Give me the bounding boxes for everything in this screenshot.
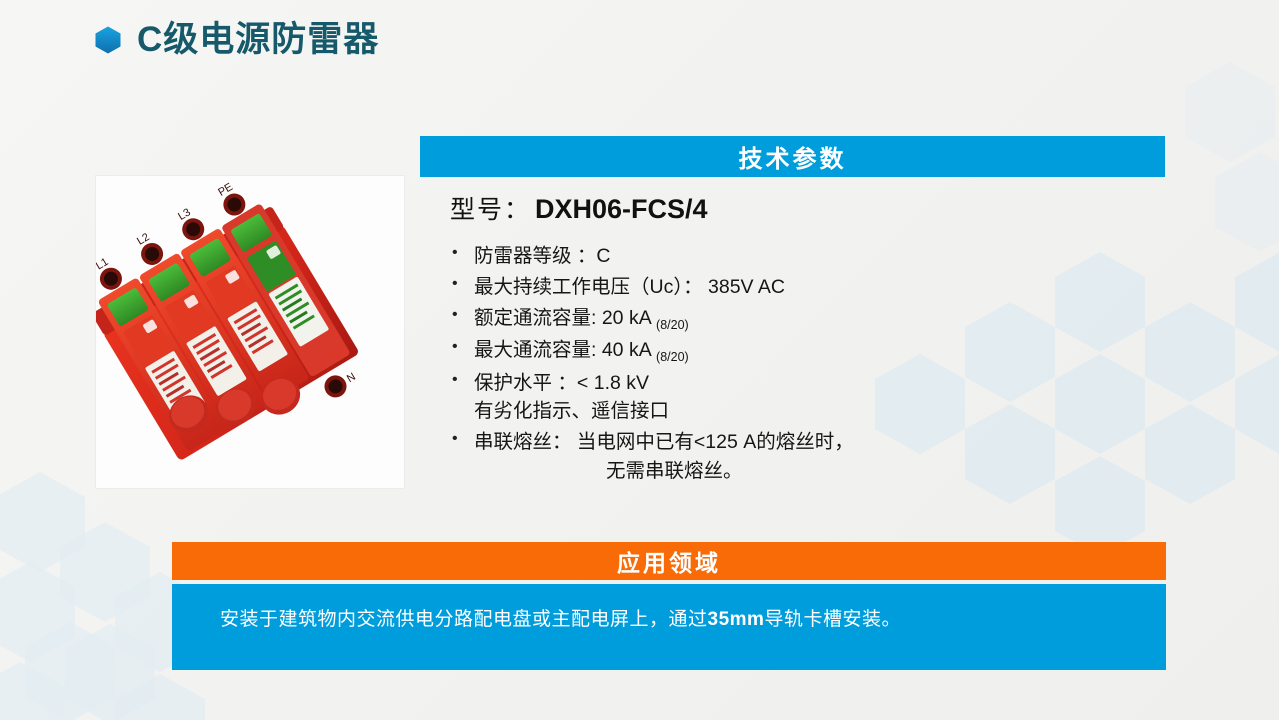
spec-item-grade-text: 防雷器等级 ：C [474, 245, 611, 267]
model-label: 型号： [450, 196, 531, 224]
spec-item-max-current-sub: (8/20) [656, 350, 689, 364]
spec-item-series-fuse-line2: 无需串联熔丝。 [474, 457, 1180, 486]
application-text: 安装于建筑物内交流供电分路配电盘或主配电屏上，通过35mm导轨卡槽安装。 [220, 604, 901, 631]
hexagon-icon [95, 26, 121, 54]
tech-params-body: 型号：DXH06-FCS/4 防雷器等级 ：C 最大持续工作电压（Uc）： 38… [420, 190, 1180, 488]
application-header: 应用领域 [172, 542, 1166, 580]
spec-item-grade: 防雷器等级 ：C [450, 242, 1180, 271]
spec-item-nominal-current: 额定通流容量: 20 kA (8/20) [450, 304, 1180, 334]
spec-item-uc-text: 最大持续工作电压（Uc）： 385V AC [474, 276, 785, 298]
spec-item-nominal-current-text: 额定通流容量: 20 kA [474, 307, 656, 329]
spec-item-protection-level-text: 保护水平 ：< 1.8 kV [474, 372, 649, 394]
page-title: C级电源防雷器 [137, 22, 379, 57]
spec-item-protection-level-line2: 有劣化指示、遥信接口 [474, 397, 1180, 426]
application-text-before: 安装于建筑物内交流供电分路配电盘或主配电屏上，通过 [220, 609, 708, 630]
tech-params-list: 防雷器等级 ：C 最大持续工作电压（Uc）： 385V AC 额定通流容量: 2… [420, 242, 1180, 486]
spec-item-protection-level: 保护水平 ：< 1.8 kV 有劣化指示、遥信接口 [450, 369, 1180, 427]
spec-item-series-fuse: 串联熔丝： 当电网中已有<125 A的熔丝时， 无需串联熔丝。 [450, 428, 1180, 486]
model-line: 型号：DXH06-FCS/4 [450, 190, 1180, 226]
spec-item-max-current-text: 最大通流容量: 40 kA [474, 339, 656, 361]
spec-item-max-current: 最大通流容量: 40 kA (8/20) [450, 336, 1180, 366]
spec-item-series-fuse-text: 串联熔丝： 当电网中已有<125 A的熔丝时， [474, 431, 854, 453]
tech-params-header: 技术参数 [420, 136, 1165, 177]
page-title-row: C级电源防雷器 [95, 22, 379, 57]
spec-item-uc: 最大持续工作电压（Uc）： 385V AC [450, 273, 1180, 302]
product-photo-image: L1 L2 L3 PE N [96, 176, 404, 488]
application-body: 安装于建筑物内交流供电分路配电盘或主配电屏上，通过35mm导轨卡槽安装。 [172, 584, 1166, 670]
application-text-after: 导轨卡槽安装。 [764, 609, 901, 630]
product-photo: L1 L2 L3 PE N [96, 176, 404, 488]
model-value: DXH06-FCS/4 [535, 194, 708, 224]
slide-canvas: C级电源防雷器 [0, 0, 1279, 720]
spec-item-nominal-current-sub: (8/20) [656, 318, 689, 332]
application-text-bold: 35mm [708, 609, 765, 630]
